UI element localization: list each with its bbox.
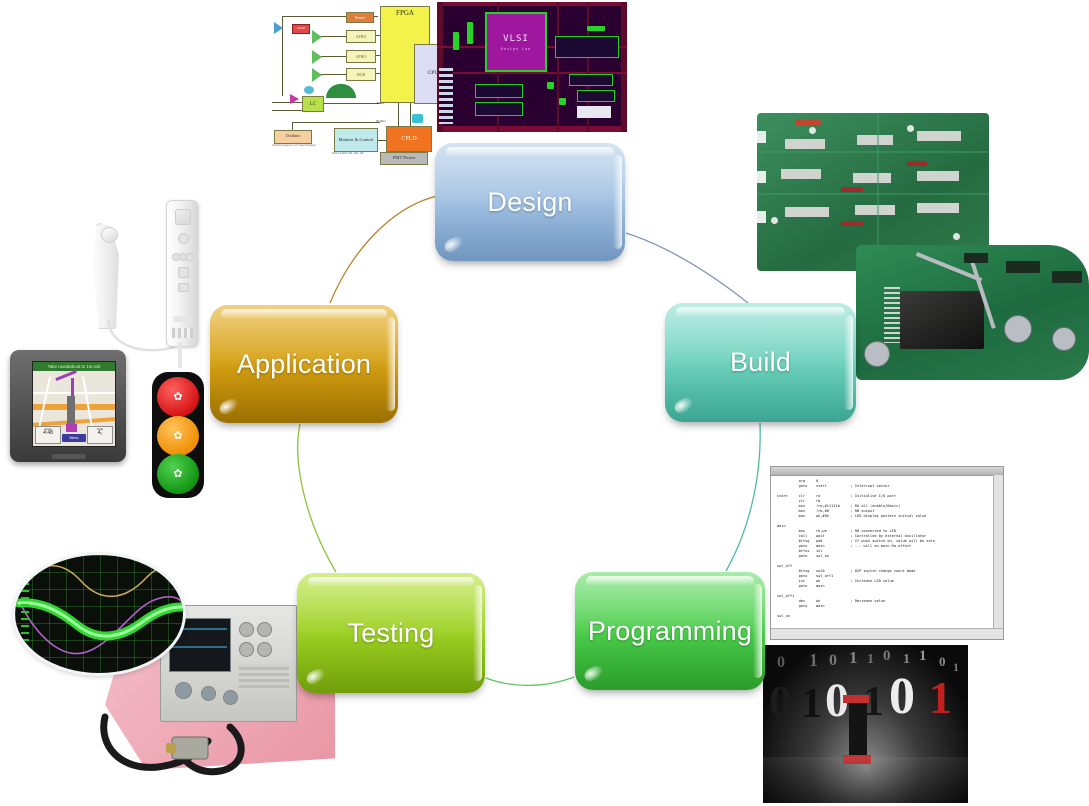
build-bevel-right: [844, 315, 853, 410]
node-build-label: Build: [730, 347, 791, 378]
design-bevel-right: [613, 155, 622, 249]
application-bevel-top: [221, 309, 386, 319]
node-programming-label: Programming: [588, 616, 752, 647]
connector-testing-application: [298, 424, 336, 572]
design-bevel-top: [446, 147, 613, 157]
programming-bevel-top: [586, 576, 753, 586]
node-application-label: Application: [237, 349, 371, 380]
node-testing[interactable]: Testing: [297, 573, 485, 693]
build-bevel-top: [676, 307, 844, 317]
node-build[interactable]: Build: [665, 303, 856, 422]
connector-application-design: [330, 196, 437, 303]
node-design-label: Design: [487, 187, 572, 218]
cycle-connectors: [0, 0, 1089, 806]
node-application[interactable]: Application: [210, 305, 398, 423]
connector-programming-testing: [486, 677, 574, 685]
testing-bevel-top: [308, 577, 473, 587]
diagram-canvas: FPGA CPU Power AFRO AFRO DGR DSM LC Osci…: [0, 0, 1089, 806]
node-testing-label: Testing: [348, 618, 435, 649]
node-programming[interactable]: Programming: [575, 572, 765, 690]
node-design[interactable]: Design: [435, 143, 625, 261]
application-bevel-right: [386, 317, 395, 411]
programming-bevel-right: [753, 584, 762, 678]
testing-bevel-right: [473, 585, 482, 681]
connector-build-programming: [726, 423, 760, 571]
connector-design-build: [626, 233, 748, 303]
